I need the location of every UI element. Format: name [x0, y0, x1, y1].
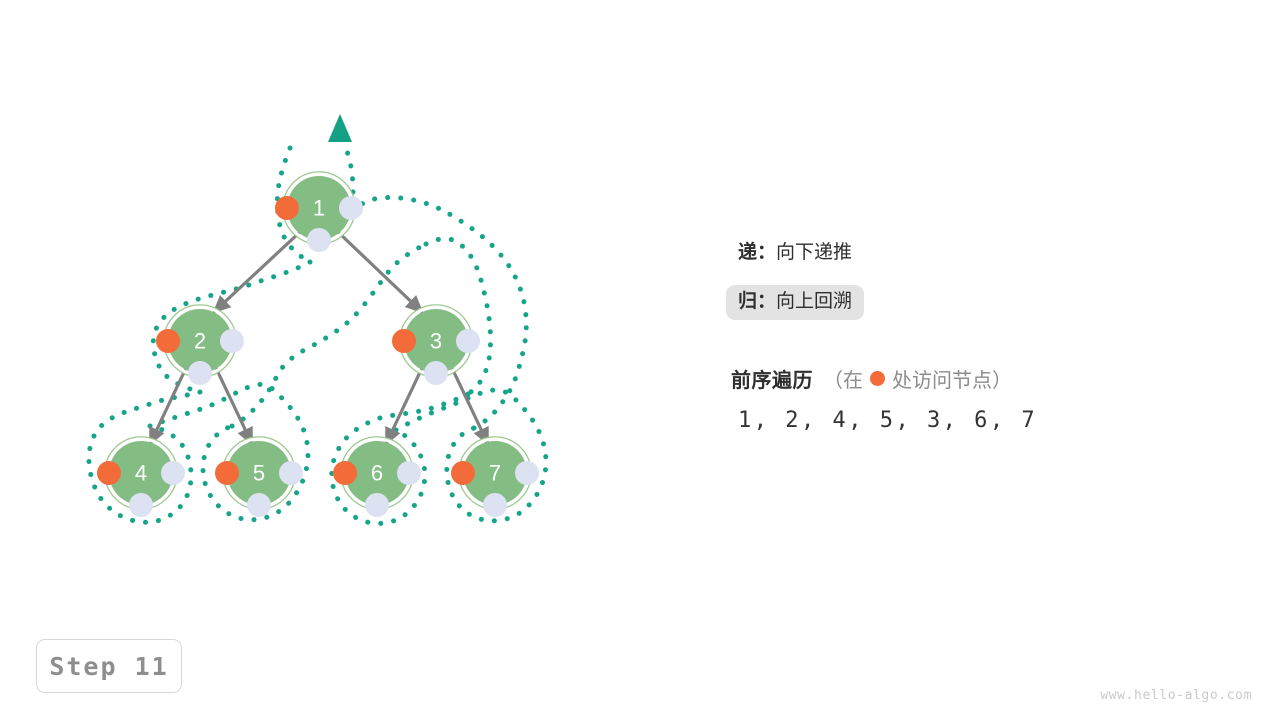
traversal-result: 1, 2, 4, 5, 3, 6, 7 — [738, 408, 1037, 433]
tree-node-2[interactable]: 2 — [156, 305, 244, 385]
legend-value-backtrack: 向上回溯 — [776, 291, 852, 312]
node-visit-dot-left — [333, 461, 357, 485]
node-visit-dot-left — [451, 461, 475, 485]
edge-3-6 — [386, 368, 422, 444]
node-slot-dot-right — [279, 461, 303, 485]
node-slot-dot-bottom — [424, 361, 448, 385]
node-label: 2 — [194, 329, 206, 354]
edge-3-7 — [452, 368, 488, 444]
node-slot-dot-right — [161, 461, 185, 485]
tree-node-4[interactable]: 4 — [97, 437, 185, 517]
node-visit-dot-left — [97, 461, 121, 485]
position-marker — [328, 114, 352, 142]
node-label: 6 — [371, 461, 383, 486]
edge-1-3 — [338, 232, 422, 312]
tree-node-6[interactable]: 6 — [333, 437, 421, 517]
node-visit-dot-left — [156, 329, 180, 353]
traversal-name: 前序遍历 — [731, 364, 813, 393]
step-badge: Step 11 — [36, 639, 182, 693]
node-visit-dot-left — [392, 329, 416, 353]
legend-value-recursion: 向下递推 — [776, 242, 852, 263]
triangle-up-icon — [328, 114, 352, 142]
traversal-note: （在 处访问节点） — [823, 364, 1012, 393]
watermark: www.hello-algo.com — [1100, 688, 1252, 703]
edge-2-4 — [150, 368, 186, 444]
node-slot-dot-bottom — [247, 493, 271, 517]
node-slot-dot-bottom — [365, 493, 389, 517]
legend-row-recursion: 递：向下递推 — [726, 236, 864, 271]
traversal-note-before: （在 — [823, 364, 863, 393]
node-slot-dot-right — [456, 329, 480, 353]
node-label: 4 — [135, 461, 147, 486]
node-slot-dot-right — [515, 461, 539, 485]
legend-key-recursion: 递： — [738, 242, 776, 263]
tree-node-3[interactable]: 3 — [392, 305, 480, 385]
legend-row-backtrack: 归：向上回溯 — [726, 285, 864, 320]
legend-key-backtrack: 归： — [738, 291, 776, 312]
node-slot-dot-bottom — [483, 493, 507, 517]
node-slot-dot-bottom — [129, 493, 153, 517]
tree-node-1[interactable]: 1 — [275, 172, 363, 252]
node-label: 7 — [489, 461, 501, 486]
node-slot-dot-right — [339, 196, 363, 220]
node-label: 1 — [313, 196, 325, 221]
node-visit-dot-left — [275, 196, 299, 220]
traversal-caption: 前序遍历 （在 处访问节点） — [731, 364, 1012, 393]
node-visit-dot-left — [215, 461, 239, 485]
node-slot-dot-bottom — [188, 361, 212, 385]
visit-dot-icon — [870, 371, 885, 386]
node-slot-dot-right — [397, 461, 421, 485]
legend-panel: 递：向下递推 — [726, 236, 1146, 271]
tree-diagram-canvas: 1234567 — [0, 0, 1280, 720]
traversal-note-after: 处访问节点） — [892, 364, 1012, 393]
tree-nodes-layer: 1234567 — [97, 172, 539, 517]
edge-2-5 — [216, 368, 252, 444]
node-slot-dot-bottom — [307, 228, 331, 252]
node-label: 5 — [253, 461, 265, 486]
node-slot-dot-right — [220, 329, 244, 353]
tree-node-7[interactable]: 7 — [451, 437, 539, 517]
node-label: 3 — [430, 329, 442, 354]
legend-panel-backtrack: 归：向上回溯 — [726, 285, 864, 320]
